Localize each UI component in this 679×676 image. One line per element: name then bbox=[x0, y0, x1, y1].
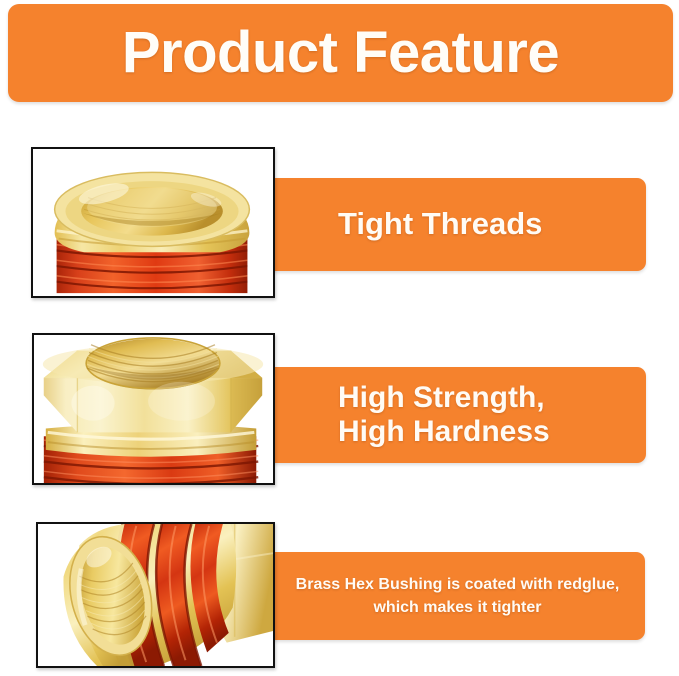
feature-row-redglue-coating: Brass Hex Bushing is coated with redglue… bbox=[0, 522, 679, 669]
feature-label-text-1: Tight Threads bbox=[338, 207, 542, 242]
feature-label-banner-2: High Strength, High Hardness bbox=[248, 367, 646, 463]
brass-hex-bushing-side-illustration bbox=[34, 335, 273, 483]
feature-label-banner-3: Brass Hex Bushing is coated with redglue… bbox=[248, 552, 645, 640]
brass-bushing-angled-redglue-illustration bbox=[38, 524, 273, 666]
feature-label-line-2-1: High Strength, bbox=[338, 381, 550, 415]
feature-label-line-3-1: Brass Hex Bushing is coated with redglue… bbox=[284, 573, 631, 596]
feature-image-3 bbox=[36, 522, 275, 668]
feature-image-2 bbox=[32, 333, 275, 485]
brass-bushing-top-view-illustration bbox=[33, 149, 273, 296]
feature-label-line-1-1: Tight Threads bbox=[338, 206, 542, 241]
feature-image-1 bbox=[31, 147, 275, 298]
feature-label-text-3: Brass Hex Bushing is coated with redglue… bbox=[284, 573, 631, 619]
feature-row-high-strength: High Strength, High Hardness bbox=[0, 333, 679, 485]
feature-label-text-2: High Strength, High Hardness bbox=[338, 381, 550, 448]
page-title: Product Feature bbox=[122, 24, 559, 82]
feature-row-tight-threads: Tight Threads bbox=[0, 147, 679, 299]
feature-label-line-2-2: High Hardness bbox=[338, 415, 550, 449]
page-header-banner: Product Feature bbox=[8, 4, 673, 102]
feature-label-line-3-2: which makes it tighter bbox=[284, 596, 631, 619]
feature-label-banner-1: Tight Threads bbox=[248, 178, 646, 271]
